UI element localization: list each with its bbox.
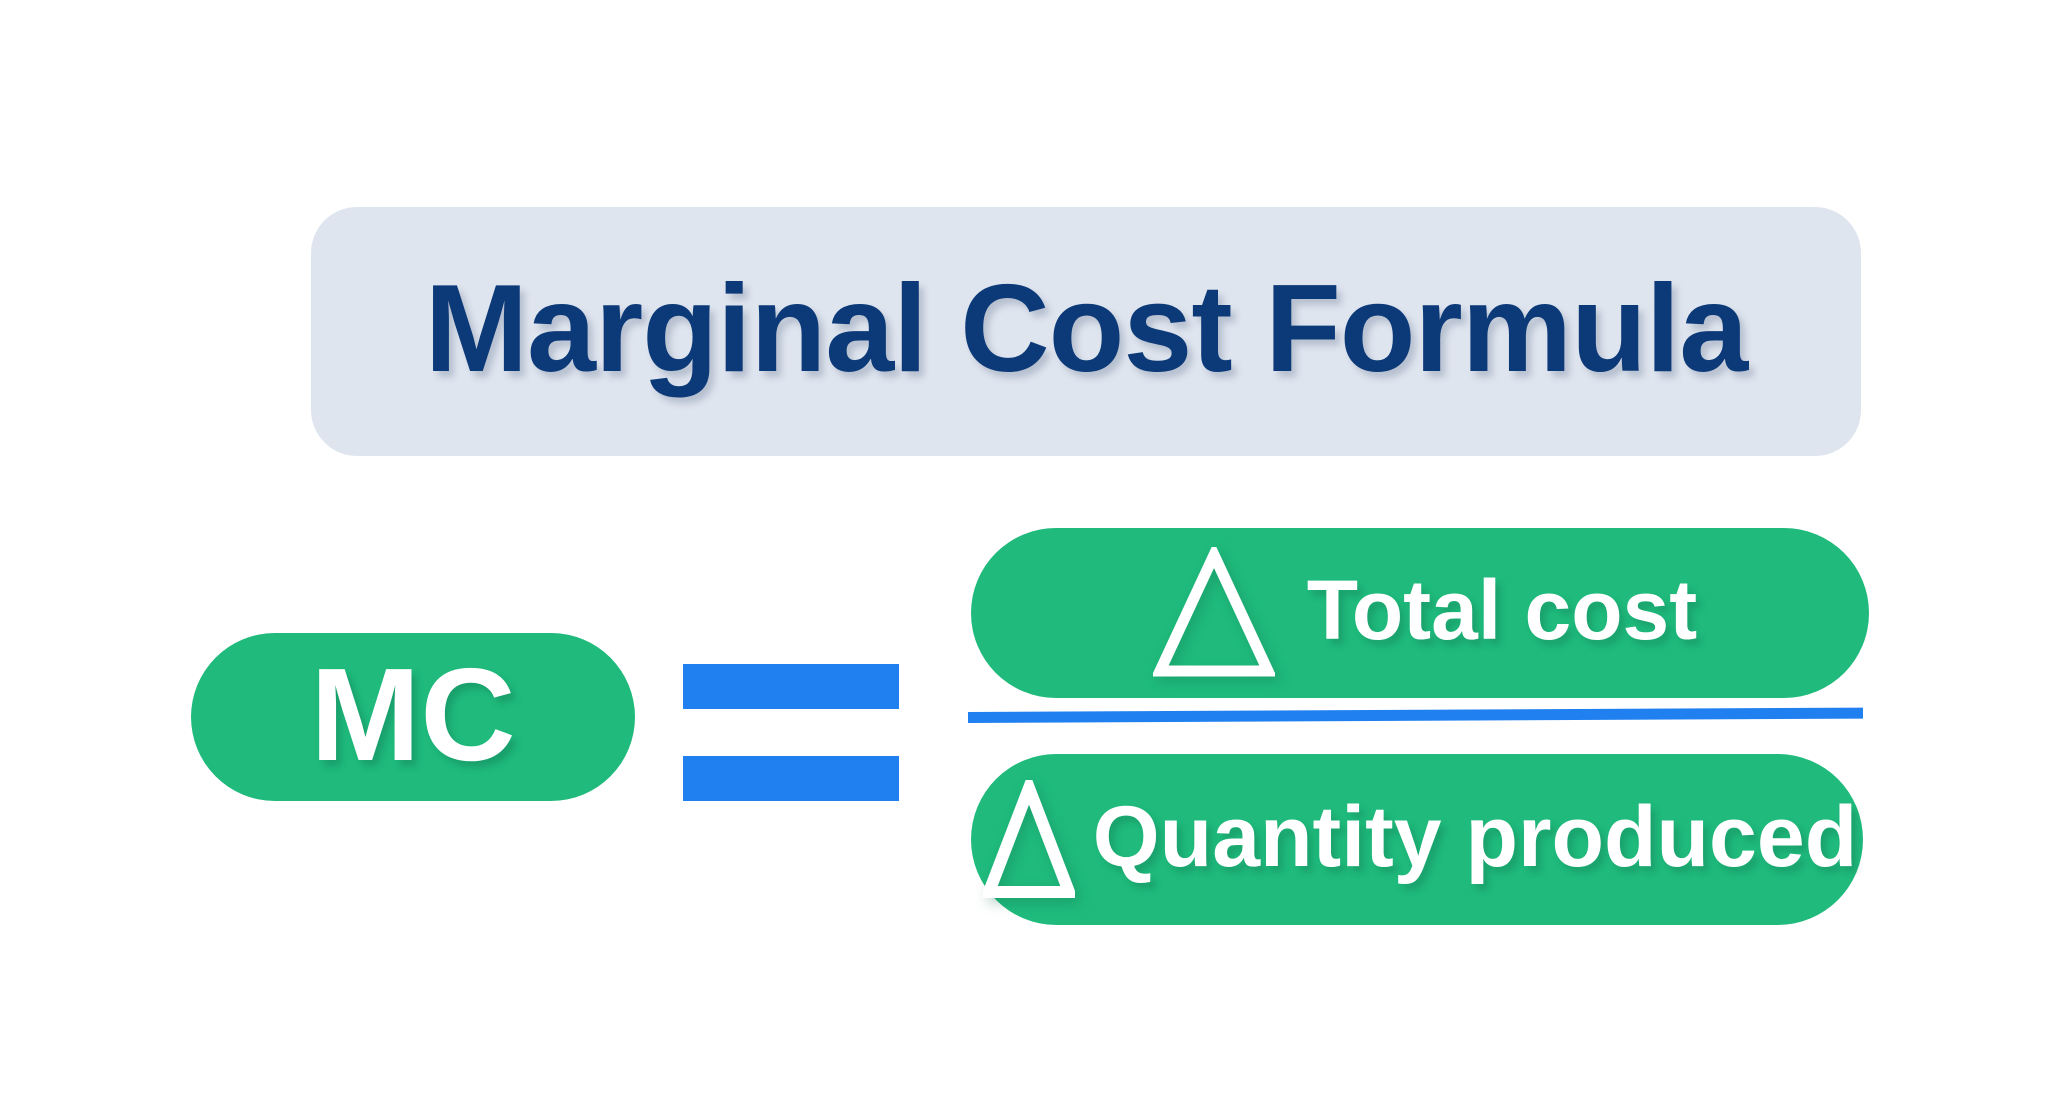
formula-graphic: Marginal Cost Formula MC Total cost Quan…: [0, 0, 2061, 1097]
formula-equation: MC Total cost Quantity produced: [0, 0, 2061, 1097]
delta-triangle-icon: [1153, 547, 1275, 679]
denominator-pill: Quantity produced: [971, 754, 1863, 925]
marginal-cost-pill: MC: [191, 633, 635, 801]
equals-icon: [683, 664, 899, 801]
numerator-pill: Total cost: [971, 528, 1869, 698]
numerator-label: Total cost: [1307, 568, 1697, 658]
fraction-divider-line: [968, 708, 1863, 723]
equals-bar-bottom: [683, 756, 899, 801]
page-title: Marginal Cost Formula: [425, 267, 1747, 397]
denominator-label: Quantity produced: [1093, 794, 1857, 886]
delta-triangle-icon: [983, 780, 1075, 900]
title-banner: Marginal Cost Formula: [311, 207, 1861, 456]
equals-bar-top: [683, 664, 899, 709]
marginal-cost-label: MC: [310, 649, 515, 785]
